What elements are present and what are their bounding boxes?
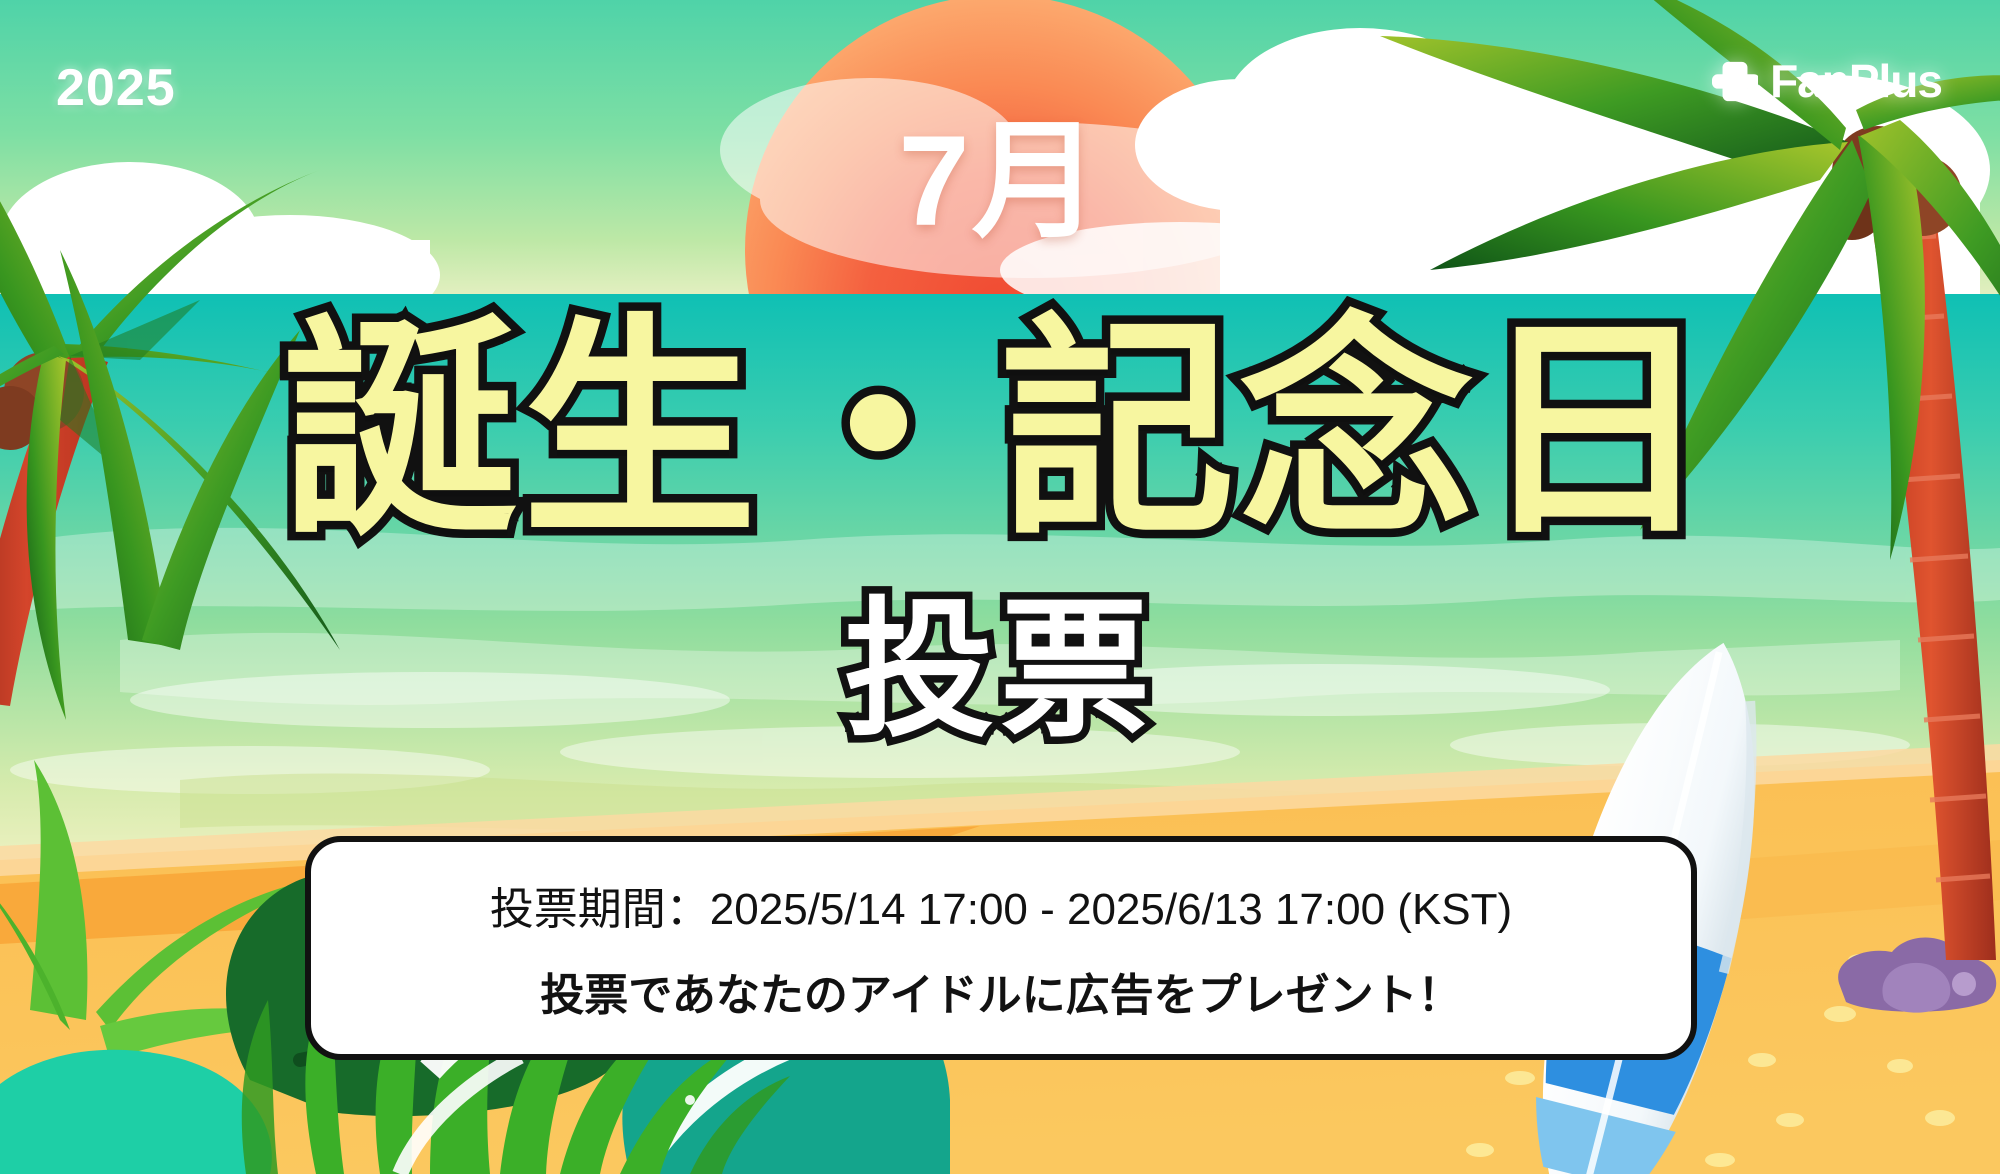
year-label: 2025 [56,58,176,118]
title-container: 誕生・記念日 [0,306,2000,555]
poster-canvas: 2025 FanPlus 7月 誕生・記念日 投票 投票期間：2025/5/14… [0,0,2000,1174]
subtitle-container: 投票 [0,592,2000,750]
voting-period-text: 投票期間：2025/5/14 17:00 - 2025/6/13 17:00 (… [490,873,1512,937]
page-subtitle: 投票 [844,592,1156,750]
month-label: 7月 [0,118,2000,246]
page-title: 誕生・記念日 [283,306,1717,555]
brand-name: FanPlus [1770,58,1942,104]
promo-text: 投票であなたのアイドルに広告をプレゼント！ [540,959,1461,1023]
info-callout-box: 投票期間：2025/5/14 17:00 - 2025/6/13 17:00 (… [305,836,1697,1060]
fanplus-logo[interactable]: FanPlus [1712,58,1942,104]
plus-icon [1712,58,1758,104]
